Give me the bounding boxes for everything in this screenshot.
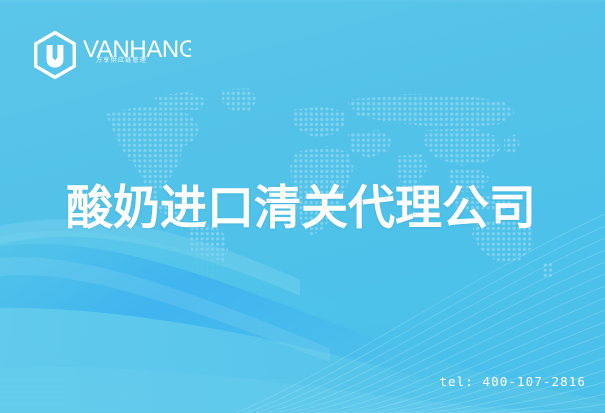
brand-logo[interactable]: VANHANG 万享供应链管理: [33, 31, 191, 81]
contact-telephone[interactable]: tel: 400-107-2816: [439, 374, 586, 389]
brand-text: VANHANG 万享供应链管理: [83, 31, 191, 63]
brand-subtitle: 万享供应链管理: [96, 55, 147, 64]
hexagon-u-mark: [33, 31, 77, 79]
page-title: 酸奶进口清关代理公司: [66, 183, 536, 235]
promo-banner: VANHANG 万享供应链管理 酸奶进口清关代理公司 tel: 400-107-…: [0, 0, 605, 413]
